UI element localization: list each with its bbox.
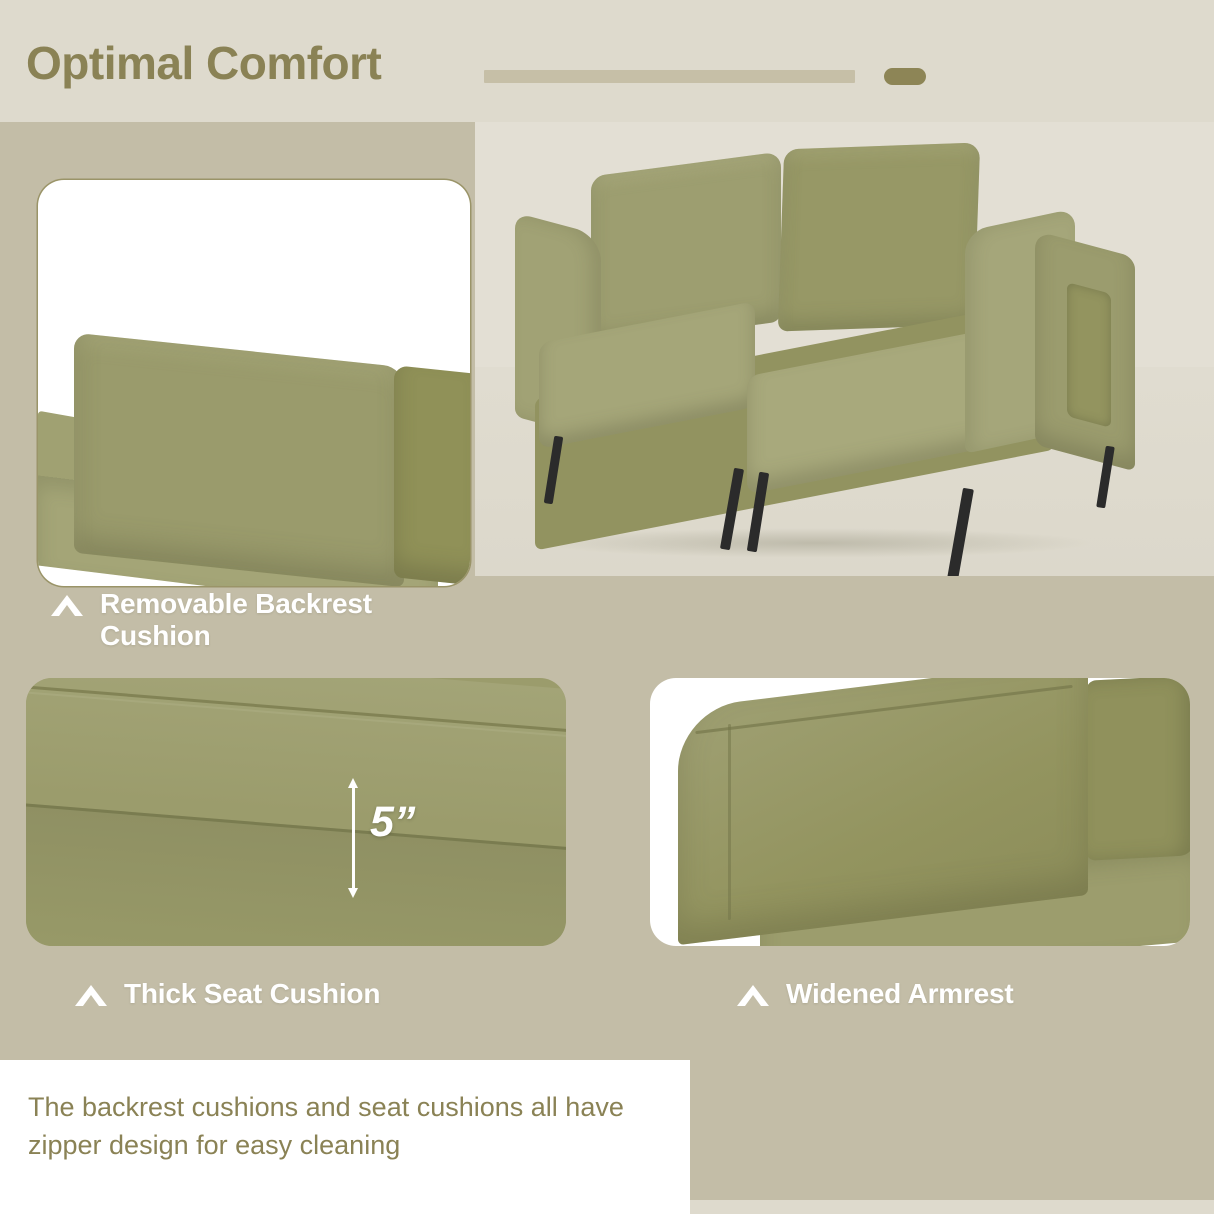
chevron-up-icon — [736, 984, 770, 1010]
caption-text: Thick Seat Cushion — [124, 978, 380, 1010]
chevron-up-icon — [50, 594, 84, 620]
chevron-up-icon — [74, 984, 108, 1010]
arrow-head-down-icon — [348, 888, 358, 898]
caption-widened-armrest: Widened Armrest — [736, 978, 1014, 1010]
dimension-arrow — [348, 778, 358, 898]
removable-backrest-cushion — [74, 333, 404, 586]
backrest-photo-card — [38, 180, 470, 586]
caption-removable-backrest: Removable Backrest Cushion — [50, 588, 470, 651]
footer-note-box: The backrest cushions and seat cushions … — [0, 1060, 690, 1214]
armrest-side-seam — [728, 724, 731, 920]
backrest-cushion-secondary — [394, 365, 470, 586]
side-pocket — [1067, 282, 1111, 428]
infographic-page: Optimal Comfort — [0, 0, 1214, 1214]
caption-text: Removable Backrest Cushion — [100, 588, 470, 651]
caption-thick-seat-cushion: Thick Seat Cushion — [74, 978, 380, 1010]
hero-photo-panel — [475, 122, 1214, 576]
header-rule — [484, 70, 855, 83]
back-cushion-right — [778, 142, 980, 331]
arrow-shaft — [352, 786, 355, 890]
footer-note-text: The backrest cushions and seat cushions … — [28, 1088, 668, 1165]
dimension-label: 5” — [370, 798, 415, 847]
caption-text: Widened Armrest — [786, 978, 1014, 1010]
loveseat-illustration — [495, 136, 1195, 566]
armrest-back-cushion — [1086, 678, 1190, 861]
page-title: Optimal Comfort — [26, 36, 381, 90]
content-stage: Removable Backrest Cushion 5” Thick Seat… — [0, 122, 1214, 1200]
seat-cushion-photo-card: 5” — [26, 678, 566, 946]
header: Optimal Comfort — [0, 0, 1214, 122]
armrest-photo-card — [650, 678, 1190, 946]
header-dot — [884, 68, 926, 85]
